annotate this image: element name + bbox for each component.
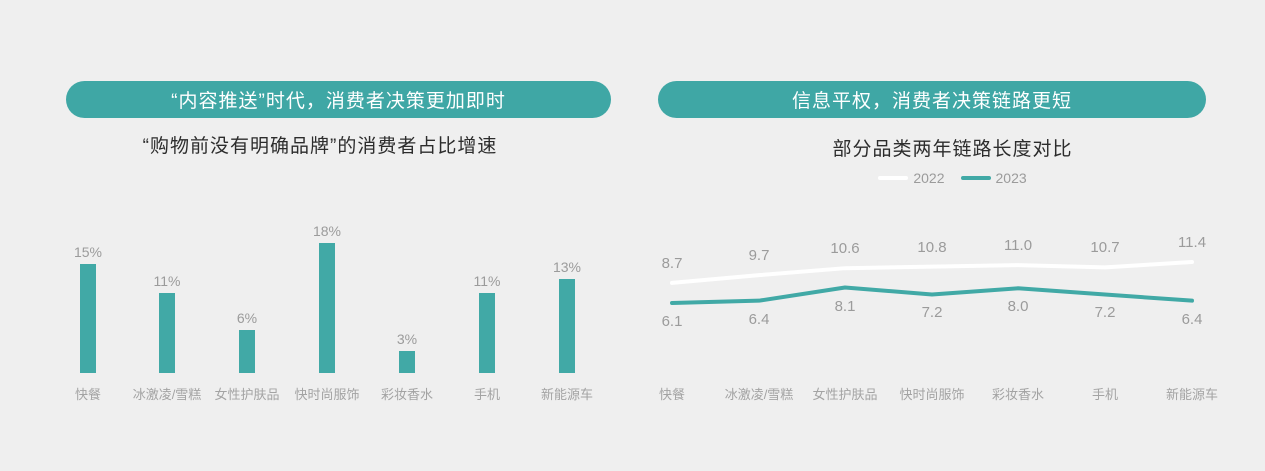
line-point-label-2022: 11.0 [1004, 237, 1032, 254]
bar-value-label: 18% [288, 223, 366, 239]
legend-item-2022[interactable]: 2022 [878, 170, 944, 186]
bar-rect[interactable] [239, 330, 255, 374]
line-point-label-2022: 10.7 [1090, 239, 1119, 256]
line-point-label-2023: 8.1 [835, 298, 856, 315]
left-panel-subtitle: “购物前没有明确品牌”的消费者占比增速 [0, 131, 640, 158]
bar-rect[interactable] [559, 279, 575, 373]
bar-value-label: 13% [528, 259, 606, 275]
line-point-label-2023: 6.4 [749, 311, 770, 328]
bar-chart: 15%快餐11%冰激凌/雪糕6%女性护肤品18%快时尚服饰3%彩妆香水11%手机… [0, 200, 640, 425]
bar-rect[interactable] [80, 264, 96, 373]
bar-rect[interactable] [479, 293, 495, 373]
line-point-label-2022: 9.7 [749, 247, 770, 264]
line-category-label: 新能源车 [1166, 384, 1218, 403]
left-chart-panel: “内容推送”时代，消费者决策更加即时 “购物前没有明确品牌”的消费者占比增速 1… [0, 0, 640, 471]
line-point-label-2022: 8.7 [662, 255, 683, 272]
legend-label: 2022 [913, 170, 944, 186]
bar-rect[interactable] [319, 243, 335, 374]
bar-category-label: 新能源车 [528, 384, 606, 403]
bar-rect[interactable] [159, 293, 175, 373]
line-series-2022[interactable] [672, 262, 1192, 283]
bar-column: 3%彩妆香水 [368, 200, 446, 425]
bar-value-label: 11% [128, 273, 206, 289]
line-point-label-2023: 7.2 [1095, 304, 1116, 321]
bar-category-label: 手机 [448, 384, 526, 403]
bar-category-label: 冰激凌/雪糕 [128, 384, 206, 403]
bar-value-label: 6% [208, 310, 286, 326]
line-series-2023[interactable] [672, 288, 1192, 303]
line-point-label-2022: 10.6 [830, 240, 859, 257]
legend-label: 2023 [996, 170, 1027, 186]
bar-value-label: 11% [448, 273, 526, 289]
line-point-label-2022: 11.4 [1178, 234, 1206, 251]
bar-column: 11%手机 [448, 200, 526, 425]
bar-category-label: 女性护肤品 [208, 384, 286, 403]
bar-value-label: 15% [49, 244, 127, 260]
bar-column: 6%女性护肤品 [208, 200, 286, 425]
line-chart-legend: 20222023 [640, 170, 1265, 186]
line-category-label: 彩妆香水 [992, 384, 1044, 403]
left-panel-title-pill: “内容推送”时代，消费者决策更加即时 [66, 81, 611, 118]
line-category-label: 快时尚服饰 [899, 384, 964, 403]
legend-item-2023[interactable]: 2023 [961, 170, 1027, 186]
bar-column: 18%快时尚服饰 [288, 200, 366, 425]
line-category-label: 快餐 [659, 384, 685, 403]
line-point-label-2023: 8.0 [1008, 298, 1029, 315]
bar-column: 11%冰激凌/雪糕 [128, 200, 206, 425]
line-category-label: 女性护肤品 [812, 384, 877, 403]
line-point-label-2022: 10.8 [917, 239, 946, 256]
bar-value-label: 3% [368, 331, 446, 347]
line-point-label-2023: 6.4 [1182, 311, 1203, 328]
line-category-label: 冰激凌/雪糕 [725, 384, 794, 403]
bar-column: 13%新能源车 [528, 200, 606, 425]
line-category-label: 手机 [1092, 384, 1118, 403]
line-chart: 8.79.710.610.811.010.711.46.16.48.17.28.… [640, 200, 1265, 425]
bar-category-label: 快时尚服饰 [288, 384, 366, 403]
bar-column: 15%快餐 [49, 200, 127, 425]
legend-swatch-2022 [878, 176, 908, 180]
right-panel-title-pill: 信息平权，消费者决策链路更短 [658, 81, 1206, 118]
line-point-label-2023: 6.1 [662, 313, 683, 330]
legend-swatch-2023 [961, 176, 991, 180]
right-chart-panel: 信息平权，消费者决策链路更短 部分品类两年链路长度对比 20222023 8.7… [640, 0, 1265, 471]
line-point-label-2023: 7.2 [922, 304, 943, 321]
bar-category-label: 彩妆香水 [368, 384, 446, 403]
bar-category-label: 快餐 [49, 384, 127, 403]
bar-rect[interactable] [399, 351, 415, 373]
right-panel-subtitle: 部分品类两年链路长度对比 [640, 134, 1265, 161]
